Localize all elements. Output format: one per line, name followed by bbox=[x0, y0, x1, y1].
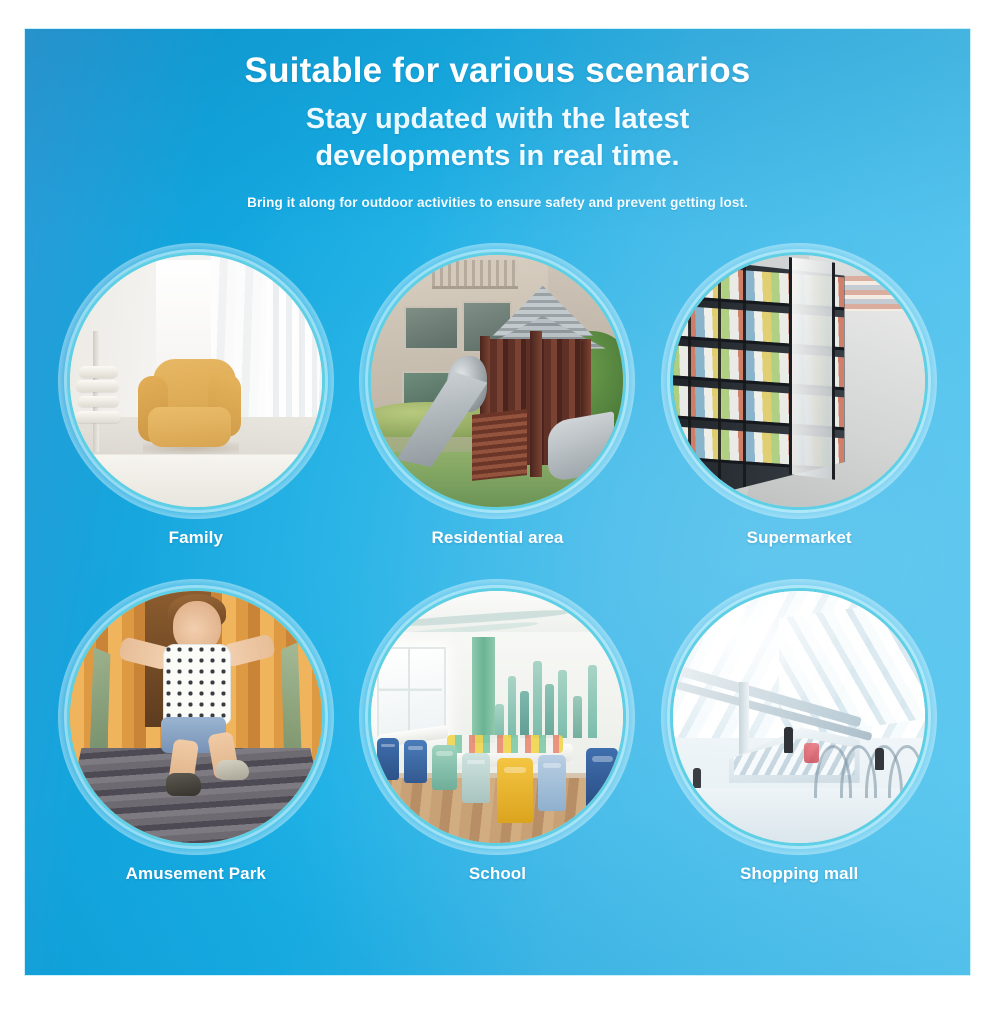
circle-ring-supermarket bbox=[666, 248, 932, 514]
school-classroom-illustration bbox=[371, 591, 623, 843]
scenario-image-amusement bbox=[67, 588, 325, 846]
family-living-room-illustration bbox=[70, 255, 322, 507]
scenario-image-family bbox=[67, 252, 325, 510]
scenario-card-family[interactable]: Family bbox=[45, 248, 347, 548]
shopping-mall-atrium-illustration bbox=[673, 591, 925, 843]
subtitle-line1-plain: Stay updated with bbox=[306, 103, 562, 135]
scenario-grid: Family bbox=[45, 248, 950, 884]
tagline: Bring it along for outdoor activities to… bbox=[25, 195, 970, 210]
scenario-label-school: School bbox=[469, 864, 526, 884]
scenario-label-amusement: Amusement Park bbox=[126, 864, 266, 884]
scenario-card-mall[interactable]: Shopping mall bbox=[648, 584, 950, 884]
amusement-park-child-slide-illustration bbox=[70, 591, 322, 843]
scenario-label-supermarket: Supermarket bbox=[747, 528, 852, 548]
scenario-image-residential bbox=[368, 252, 626, 510]
scenario-card-amusement[interactable]: Amusement Park bbox=[45, 584, 347, 884]
page-root: Suitable for various scenarios Stay upda… bbox=[0, 0, 1000, 1012]
circle-ring-family bbox=[63, 248, 329, 514]
residential-playground-illustration bbox=[371, 255, 623, 507]
scenario-card-residential[interactable]: Residential area bbox=[347, 248, 649, 548]
scenario-card-supermarket[interactable]: Supermarket bbox=[648, 248, 950, 548]
scenario-image-school bbox=[368, 588, 626, 846]
circle-ring-residential bbox=[364, 248, 630, 514]
circle-ring-amusement bbox=[63, 584, 329, 850]
scenario-image-supermarket bbox=[670, 252, 928, 510]
subtitle-line1-bold: the latest bbox=[562, 103, 689, 135]
supermarket-aisle-illustration bbox=[673, 255, 925, 507]
scenario-image-mall bbox=[670, 588, 928, 846]
header: Suitable for various scenarios Stay upda… bbox=[25, 29, 970, 210]
promo-panel: Suitable for various scenarios Stay upda… bbox=[25, 29, 970, 975]
scenario-card-school[interactable]: School bbox=[347, 584, 649, 884]
subtitle-line2: developments in real time. bbox=[315, 140, 679, 172]
scenario-label-family: Family bbox=[169, 528, 223, 548]
page-title: Suitable for various scenarios bbox=[25, 51, 970, 90]
circle-ring-school bbox=[364, 584, 630, 850]
scenario-label-mall: Shopping mall bbox=[740, 864, 858, 884]
scenario-label-residential: Residential area bbox=[431, 528, 563, 548]
circle-ring-mall bbox=[666, 584, 932, 850]
page-subtitle: Stay updated with the latest development… bbox=[188, 101, 808, 175]
